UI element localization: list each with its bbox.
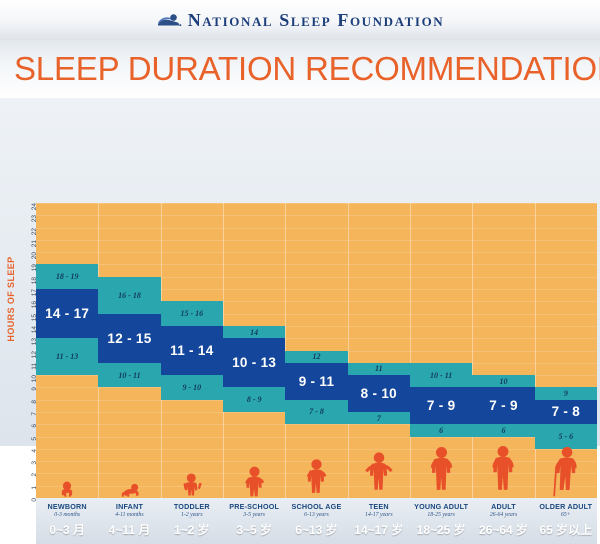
category-age-range: 0-3 months <box>36 512 98 518</box>
brand-header: National Sleep Foundation <box>0 0 600 40</box>
category-age-range-cn: 6~13 岁 <box>285 521 347 538</box>
age-silhouette <box>535 445 597 498</box>
recommended-band: 7 - 9 <box>472 387 534 424</box>
category-age-range: 18-25 years <box>410 512 472 518</box>
may-be-appropriate-lower-band: 10 - 11 <box>98 363 160 388</box>
recommended-band: 7 - 8 <box>535 400 597 425</box>
young-adult-figure-icon <box>425 446 458 498</box>
may-be-appropriate-upper-band: 18 - 19 <box>36 264 98 289</box>
category-age-range-cn: 65 岁以上 <box>535 521 597 538</box>
category-label-cell[interactable]: TEEN14-17 years14~17 岁 <box>348 498 410 544</box>
may-be-appropriate-upper-band: 14 <box>223 326 285 338</box>
recommended-band: 14 - 17 <box>36 289 98 338</box>
brand-logo: National Sleep Foundation <box>156 10 445 31</box>
recommended-band: 9 - 11 <box>285 363 347 400</box>
category-age-range-cn: 1~2 岁 <box>161 521 223 538</box>
recommended-band: 7 - 9 <box>410 387 472 424</box>
category-age-range: 14-17 years <box>348 512 410 518</box>
age-silhouette <box>223 465 285 498</box>
chart-column[interactable]: 10 - 117 - 96 <box>410 203 472 498</box>
category-name: OLDER ADULT <box>535 502 597 511</box>
category-name: NEWBORN <box>36 502 98 511</box>
chart-column[interactable]: 107 - 96 <box>472 203 534 498</box>
age-silhouette <box>161 472 223 498</box>
category-label-cell[interactable]: NEWBORN0-3 months0~3 月 <box>36 498 98 544</box>
older-adult-figure-icon <box>549 445 582 498</box>
category-name: TODDLER <box>161 502 223 511</box>
may-be-appropriate-upper-band: 11 <box>348 363 410 375</box>
recommended-band: 10 - 13 <box>223 338 285 387</box>
recommended-band: 8 - 10 <box>348 375 410 412</box>
chart-column[interactable]: 16 - 1812 - 1510 - 11 <box>98 203 160 498</box>
category-age-range: 3-5 years <box>223 512 285 518</box>
may-be-appropriate-upper-band: 10 - 11 <box>410 363 472 388</box>
chart-plot-area: 18 - 1914 - 1711 - 1316 - 1812 - 1510 - … <box>36 203 597 498</box>
category-name: PRE-SCHOOL <box>223 502 285 511</box>
category-age-range: 1-2 years <box>161 512 223 518</box>
category-age-range-cn: 18~25 岁 <box>410 521 472 538</box>
may-be-appropriate-upper-band: 16 - 18 <box>98 277 160 314</box>
adult-figure-icon <box>487 445 519 498</box>
baby-figure-icon <box>58 480 76 498</box>
category-name: YOUNG ADULT <box>410 502 472 511</box>
category-label-cell[interactable]: SCHOOL AGE6-13 years6~13 岁 <box>285 498 347 544</box>
may-be-appropriate-lower-band: 8 - 9 <box>223 387 285 412</box>
toddler-figure-icon <box>180 472 204 498</box>
category-age-range-cn: 3~5 岁 <box>223 521 285 538</box>
crawling-baby-figure-icon <box>117 482 142 498</box>
chart-column[interactable]: 1410 - 138 - 9 <box>223 203 285 498</box>
category-label-strip: NEWBORN0-3 months0~3 月INFANT4-11 months4… <box>36 498 597 544</box>
page-title: SLEEP DURATION RECOMMENDATIONS <box>14 50 600 88</box>
may-be-appropriate-lower-band: 9 - 10 <box>161 375 223 400</box>
category-age-range: 4-11 months <box>98 512 160 518</box>
chart-column[interactable]: 97 - 85 - 6 <box>535 203 597 498</box>
may-be-appropriate-lower-band: 7 <box>348 412 410 424</box>
category-label-cell[interactable]: PRE-SCHOOL3-5 years3~5 岁 <box>223 498 285 544</box>
recommended-band: 12 - 15 <box>98 314 160 363</box>
may-be-appropriate-upper-band: 9 <box>535 387 597 399</box>
preschooler-figure-icon <box>241 465 268 498</box>
teen-figure-icon <box>363 451 395 498</box>
sleeping-person-icon <box>156 11 182 29</box>
category-age-range: 65+ <box>535 512 597 518</box>
chart-column[interactable]: 15 - 1611 - 149 - 10 <box>161 203 223 498</box>
category-label-cell[interactable]: INFANT4-11 months4~11 月 <box>98 498 160 544</box>
y-axis-ticks: 2423222120191817161514131211109876543210 <box>22 203 35 498</box>
category-name: INFANT <box>98 502 160 511</box>
category-age-range-cn: 4~11 月 <box>98 521 160 538</box>
chart-column[interactable]: 129 - 117 - 8 <box>285 203 347 498</box>
may-be-appropriate-lower-band: 11 - 13 <box>36 338 98 375</box>
age-silhouette <box>36 480 98 498</box>
may-be-appropriate-upper-band: 15 - 16 <box>161 301 223 326</box>
category-name: ADULT <box>472 502 534 511</box>
age-silhouette <box>472 445 534 498</box>
age-silhouette <box>285 458 347 498</box>
age-silhouette <box>410 446 472 498</box>
chart-frame: HOURS OF SLEEP 2423222120191817161514131… <box>0 98 600 446</box>
age-silhouette <box>98 482 160 498</box>
category-age-range: 26-64 years <box>472 512 534 518</box>
category-label-cell[interactable]: YOUNG ADULT18-25 years18~25 岁 <box>410 498 472 544</box>
chart-column[interactable]: 118 - 107 <box>348 203 410 498</box>
y-axis-title: HOURS OF SLEEP <box>6 244 16 354</box>
schoolchild-figure-icon <box>302 458 331 498</box>
may-be-appropriate-lower-band: 6 <box>410 424 472 436</box>
category-name: SCHOOL AGE <box>285 502 347 511</box>
category-age-range-cn: 14~17 岁 <box>348 521 410 538</box>
category-name: TEEN <box>348 502 410 511</box>
may-be-appropriate-upper-band: 12 <box>285 351 347 363</box>
may-be-appropriate-lower-band: 7 - 8 <box>285 400 347 425</box>
brand-name: National Sleep Foundation <box>188 10 445 31</box>
recommended-band: 11 - 14 <box>161 326 223 375</box>
category-age-range: 6-13 years <box>285 512 347 518</box>
may-be-appropriate-lower-band: 6 <box>472 424 534 436</box>
may-be-appropriate-upper-band: 10 <box>472 375 534 387</box>
category-label-cell[interactable]: OLDER ADULT65+65 岁以上 <box>535 498 597 544</box>
category-label-cell[interactable]: TODDLER1-2 years1~2 岁 <box>161 498 223 544</box>
category-age-range-cn: 0~3 月 <box>36 521 98 538</box>
chart-column[interactable]: 18 - 1914 - 1711 - 13 <box>36 203 98 498</box>
category-label-cell[interactable]: ADULT26-64 years26~64 岁 <box>472 498 534 544</box>
category-age-range-cn: 26~64 岁 <box>472 521 534 538</box>
age-silhouette <box>348 451 410 498</box>
